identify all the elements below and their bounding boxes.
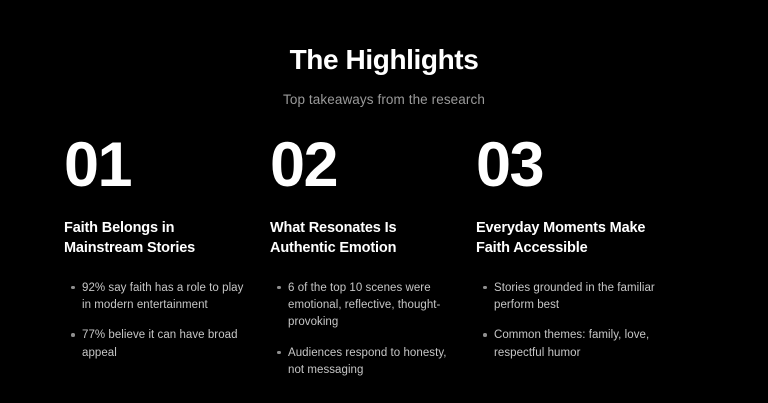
highlight-column-02: 02 What Resonates Is Authentic Emotion 6… xyxy=(270,140,476,379)
list-item-label: Audiences respond to honesty, not messag… xyxy=(288,347,447,376)
highlights-slide: The Highlights Top takeaways from the re… xyxy=(0,0,768,403)
highlight-column-03: 03 Everyday Moments Make Faith Accessibl… xyxy=(476,140,682,362)
list-item-label: 77% believe it can have broad appeal xyxy=(82,329,238,358)
slide-header: The Highlights Top takeaways from the re… xyxy=(0,0,768,107)
column-number: 02 xyxy=(270,140,452,192)
highlights-columns: 01 Faith Belongs in Mainstream Stories 9… xyxy=(0,140,768,379)
bullet-dot-icon xyxy=(71,286,75,290)
page-title: The Highlights xyxy=(0,44,768,76)
bullet-dot-icon xyxy=(483,286,487,290)
bullet-dot-icon xyxy=(277,351,281,355)
highlight-column-01: 01 Faith Belongs in Mainstream Stories 9… xyxy=(64,140,270,362)
page-subtitle: Top takeaways from the research xyxy=(0,76,768,107)
column-heading: Faith Belongs in Mainstream Stories xyxy=(64,192,246,258)
bullet-dot-icon xyxy=(483,333,487,337)
list-item-label: Common themes: family, love, respectful … xyxy=(494,329,649,358)
list-item: 6 of the top 10 scenes were emotional, r… xyxy=(270,280,452,332)
column-heading: What Resonates Is Authentic Emotion xyxy=(270,192,452,258)
column-bullet-list: Stories grounded in the familiar perform… xyxy=(476,258,658,362)
list-item: 92% say faith has a role to play in mode… xyxy=(64,280,246,315)
column-heading: Everyday Moments Make Faith Accessible xyxy=(476,192,658,258)
list-item-label: Stories grounded in the familiar perform… xyxy=(494,282,655,311)
column-bullet-list: 92% say faith has a role to play in mode… xyxy=(64,258,246,362)
column-number: 01 xyxy=(64,140,246,192)
bullet-dot-icon xyxy=(277,286,281,290)
list-item: Common themes: family, love, respectful … xyxy=(476,327,658,362)
list-item: Stories grounded in the familiar perform… xyxy=(476,280,658,315)
column-number: 03 xyxy=(476,140,658,192)
list-item: Audiences respond to honesty, not messag… xyxy=(270,345,452,380)
list-item-label: 92% say faith has a role to play in mode… xyxy=(82,282,243,311)
list-item: 77% believe it can have broad appeal xyxy=(64,327,246,362)
bullet-dot-icon xyxy=(71,333,75,337)
list-item-label: 6 of the top 10 scenes were emotional, r… xyxy=(288,282,440,329)
column-bullet-list: 6 of the top 10 scenes were emotional, r… xyxy=(270,258,452,379)
